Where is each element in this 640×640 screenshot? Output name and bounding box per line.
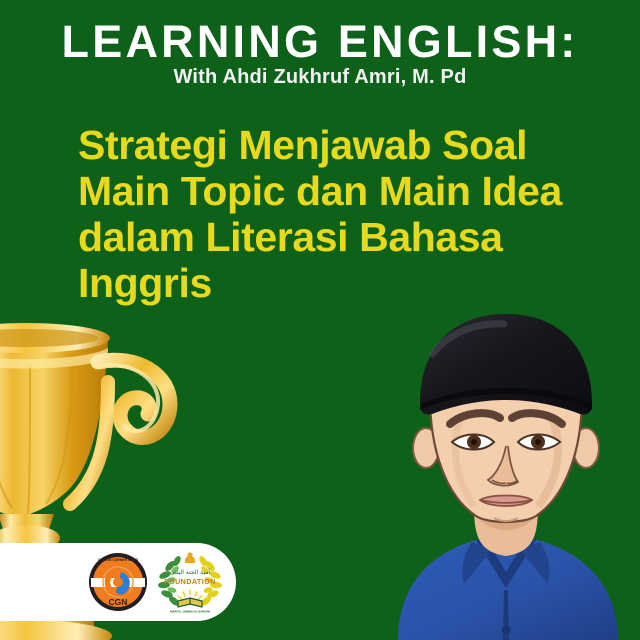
- cgn-abbrev: CGN: [109, 597, 128, 607]
- speaker-portrait: [368, 300, 640, 640]
- title-line-2: Main Topic dan Main Idea: [78, 168, 623, 214]
- cgn-ring-text: CIGDON CORNER NEWS: [98, 558, 139, 562]
- title-line-3: dalam Literasi Bahasa: [78, 214, 623, 260]
- foundation-arabic-text: أمية الجنة اليثنى: [170, 568, 210, 576]
- page-title: Strategi Menjawab Soal Main Topic dan Ma…: [78, 122, 623, 306]
- logo-banner: CGN CIGDON CORNER NEWS: [0, 543, 236, 621]
- foundation-subtext: AMIATUL JANNAH AL BANIYAH: [170, 610, 211, 614]
- speaker-byline: With Ahdi Zukhruf Amri, M. Pd: [0, 66, 640, 89]
- title-line-1: Strategi Menjawab Soal: [78, 122, 623, 168]
- poster-canvas: LEARNING ENGLISH: With Ahdi Zukhruf Amri…: [0, 0, 640, 640]
- cgn-logo[interactable]: CGN CIGDON CORNER NEWS: [88, 552, 148, 612]
- foundation-logo[interactable]: أمية الجنة اليثنى FOUNDATION AMIATUL JAN…: [156, 550, 224, 614]
- page-kicker: LEARNING ENGLISH:: [0, 18, 640, 65]
- foundation-label: FOUNDATION: [164, 577, 215, 586]
